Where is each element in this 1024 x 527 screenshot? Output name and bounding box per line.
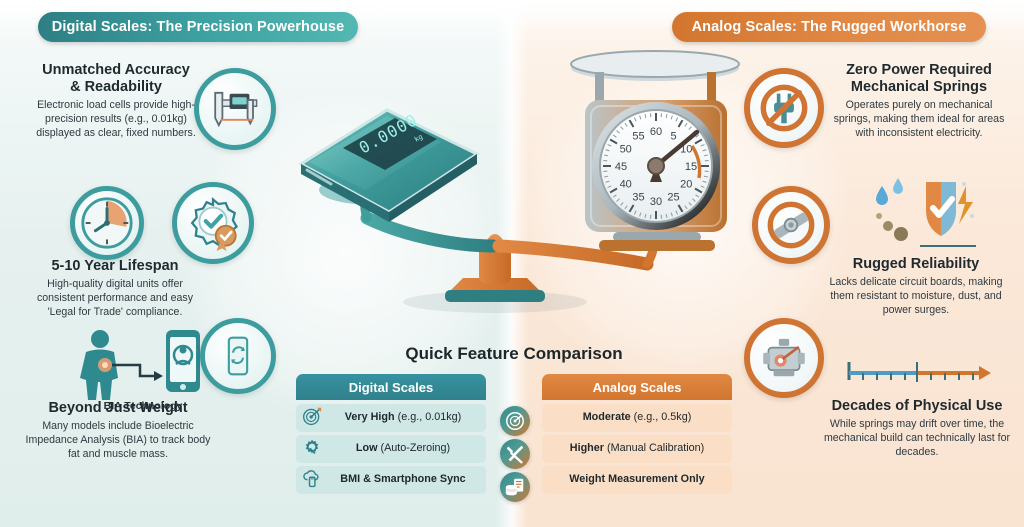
comparison-row-icon-column [494,404,536,505]
dial-tick-label: 45 [615,161,627,173]
feature-lifespan: 5-10 Year Lifespan High-quality digital … [22,258,208,319]
digital-caliper-icon [194,68,276,150]
dial-tick-label: 30 [650,196,662,208]
feature-zero-power-title-line2: Mechanical Springs [851,79,987,95]
comparison-cell-digital-text: Very High (e.g., 0.01kg) [345,412,461,424]
feature-decades-body: While springs may drift over time, the m… [822,418,1012,459]
feature-beyond-weight-title: Beyond Just Weight [22,400,214,417]
no-circuit-board-icon [752,186,830,264]
comparison-cell-analog: Moderate (e.g., 0.5kg) [542,404,732,432]
comparison-cell-analog-text: Higher (Manual Calibration) [570,443,704,455]
comparison-header-analog: Analog Scales [542,374,732,400]
feature-lifespan-body: High-quality digital units offer consist… [22,278,208,319]
feature-accuracy: Unmatched Accuracy & Readability Electro… [36,62,196,141]
feature-accuracy-title: Unmatched Accuracy & Readability [36,62,196,96]
feature-accuracy-title-line1: Unmatched Accuracy [42,62,190,78]
bia-technology-illustration [78,328,208,400]
dial-tick-label: 35 [632,191,644,203]
comparison-table-title: Quick Feature Comparison [296,344,732,364]
feature-lifespan-title: 5-10 Year Lifespan [22,258,208,275]
feature-zero-power-title: Zero Power Required Mechanical Springs [832,62,1006,96]
target-accuracy-icon [302,406,322,430]
timeline-arrow [845,358,995,384]
dial-tick-label: 20 [680,179,692,191]
dial-tick-label: 5 [670,131,676,143]
feature-beyond-weight: Beyond Just Weight Many models include B… [22,400,214,461]
dial-tick-label: 55 [632,131,644,143]
gauge-glyph [758,332,810,384]
clock-glyph [78,194,136,252]
feature-accuracy-title-line2: & Readability [70,79,162,95]
feature-decades: Decades of Physical Use While springs ma… [822,398,1012,459]
comparison-column-analog: Analog Scales Moderate (e.g., 0.5kg)High… [542,374,732,494]
dial-tick-label: 25 [667,191,679,203]
banner-digital-scales: Digital Scales: The Precision Powerhouse [38,12,358,42]
comparison-cell-digital-text: Low (Auto-Zeroing) [356,443,450,455]
comparison-cell-digital-text: BMI & Smartphone Sync [340,474,465,486]
certified-badge-icon [172,182,254,264]
banner-analog-label: Analog Scales: The Rugged Workhorse [692,19,967,35]
caliper-glyph [208,82,262,136]
comparison-header-digital: Digital Scales [296,374,486,400]
comparison-cell-analog-text: Weight Measurement Only [569,474,704,486]
comparison-cell-digital: BMI & Smartphone Sync [296,466,486,494]
no-power-plug-icon [744,68,824,148]
no-plug-glyph [757,81,811,135]
gear-wrench-icon [302,437,322,461]
feature-decades-title: Decades of Physical Use [822,398,1012,415]
feature-zero-power-title-line1: Zero Power Required [846,62,992,78]
banner-digital-label: Digital Scales: The Precision Powerhouse [52,19,344,35]
feature-accuracy-body: Electronic load cells provide high-preci… [36,99,196,140]
feature-rugged-body: Lacks delicate circuit boards, making th… [826,276,1006,317]
no-circuit-glyph [764,198,818,252]
clock-icon [70,186,144,260]
feature-rugged: Rugged Reliability Lacks delicate circui… [826,256,1006,317]
smartphone-sync-icon [200,318,276,394]
feature-rugged-title: Rugged Reliability [826,256,1006,273]
dial-tick-label: 60 [650,126,662,138]
radar-dial-icon [500,406,530,436]
cloud-phone-icon [302,468,322,492]
feature-comparison-table: Quick Feature Comparison Digital Scales … [296,344,732,498]
dial-tick-label: 40 [620,179,632,191]
wrench-screwdriver-icon [500,439,530,469]
infographic-canvas: Digital Scales: The Precision Powerhouse… [0,0,1024,527]
smartphone-icon [166,330,200,392]
comparison-cell-digital: Low (Auto-Zeroing) [296,435,486,463]
dial-tick-label: 50 [620,144,632,156]
protection-shield-illustration [868,176,980,252]
feature-beyond-weight-body: Many models include Bioelectric Impedanc… [22,420,214,461]
comparison-cell-analog: Higher (Manual Calibration) [542,435,732,463]
comparison-cell-analog-text: Moderate (e.g., 0.5kg) [583,412,692,424]
banner-analog-scales: Analog Scales: The Rugged Workhorse [672,12,986,42]
database-document-icon [500,472,530,502]
balance-scale-illustration: 0.0000 kg 51015202530354045505560 [255,40,775,330]
smartphone-sync-glyph [213,331,263,381]
feature-zero-power-body: Operates purely on mechanical springs, m… [832,99,1006,140]
mechanical-gauge-icon [744,318,824,398]
comparison-cell-analog: Weight Measurement Only [542,466,732,494]
dial-tick-label: 15 [685,161,697,173]
feature-zero-power: Zero Power Required Mechanical Springs O… [832,62,1006,141]
comparison-column-digital: Digital Scales Very High (e.g., 0.01kg)L… [296,374,486,494]
comparison-cell-digital: Very High (e.g., 0.01kg) [296,404,486,432]
certified-badge-glyph [184,194,242,252]
